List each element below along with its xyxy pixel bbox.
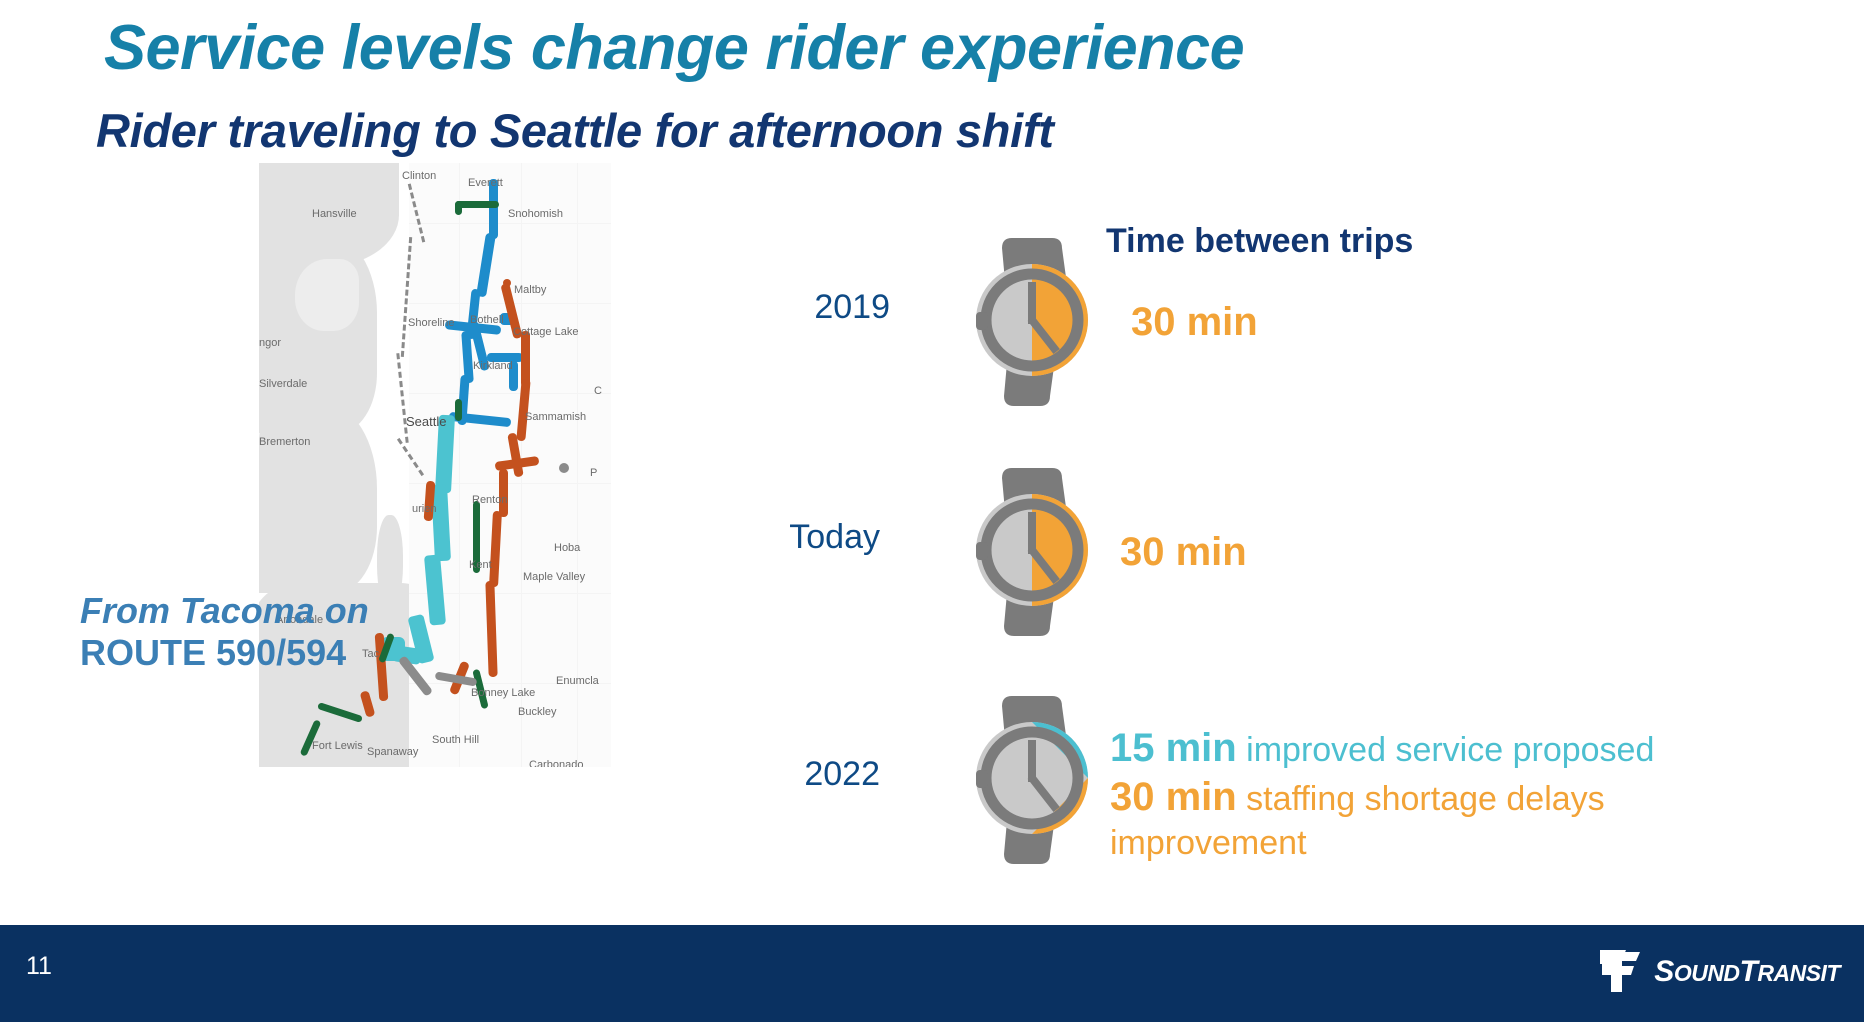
map-label: Enumcla [556, 675, 599, 687]
watch-icon-2022 [970, 690, 1094, 866]
map-grid-line [409, 393, 611, 394]
map-landmass-peninsula [259, 403, 377, 593]
sound-transit-wordmark: SOUNDTRANSIT [1654, 955, 1840, 989]
region-transit-map: Clinton Everett Snohomish Hansville Malt… [259, 163, 611, 767]
note-text: improvement [1110, 824, 1307, 862]
map-label: Maltby [514, 284, 546, 296]
map-label: Hansville [312, 208, 357, 220]
map-label: Spanaway [367, 746, 418, 758]
note-text: staffing shortage delays [1237, 780, 1605, 818]
map-label: Maple Valley [523, 571, 585, 583]
row-year-2022: 2022 [690, 755, 880, 794]
map-label: Silverdale [259, 378, 307, 390]
map-label: Bremerton [259, 436, 310, 448]
note-line-30min: 30 min staffing shortage delays [1110, 775, 1654, 820]
map-label: Kirkland [473, 360, 513, 372]
logo-s: S [1654, 955, 1674, 988]
map-label: Hoba [554, 542, 580, 554]
map-label: Snohomish [508, 208, 563, 220]
map-label: Sammamish [525, 411, 586, 423]
map-label: South Hill [432, 734, 479, 746]
note-line-improvement: improvement [1110, 824, 1654, 863]
logo-ransit: RANSIT [1757, 960, 1840, 986]
map-grid-line [409, 223, 611, 224]
map-route-green [455, 201, 462, 215]
time-between-trips-heading: Time between trips [1106, 222, 1413, 261]
row-year-2019: 2019 [700, 288, 890, 327]
page-number: 11 [26, 952, 52, 981]
note-strong: 30 min [1110, 775, 1237, 819]
logo-t: T [1740, 955, 1758, 988]
map-route-gray [559, 463, 569, 473]
row-value-2019: 30 min [1131, 300, 1258, 345]
row-notes-2022: 15 min improved service proposed 30 min … [1110, 726, 1654, 867]
map-label: P [590, 467, 597, 479]
map-label: Shoreline [408, 317, 454, 329]
map-label: ngor [259, 337, 281, 349]
map-label: Clinton [402, 170, 436, 182]
note-strong: 15 min [1110, 726, 1237, 770]
map-route-green [455, 399, 462, 421]
map-label: Cottage Lake [513, 326, 578, 338]
route-callout-line-2: ROUTE 590/594 [80, 632, 500, 674]
route-callout: From Tacoma on ROUTE 590/594 [80, 590, 500, 675]
map-label: Fort Lewis [312, 740, 363, 752]
map-landmass-island [295, 259, 359, 331]
map-label: Bothell [470, 314, 504, 326]
map-route-orange [499, 469, 508, 517]
map-label: C [594, 385, 602, 397]
route-callout-line-1: From Tacoma on [80, 590, 500, 632]
map-label: Bonney Lake [471, 687, 535, 699]
note-line-15min: 15 min improved service proposed [1110, 726, 1654, 771]
row-value-today: 30 min [1120, 530, 1247, 575]
watch-icon-today [970, 462, 1094, 638]
note-text: improved service proposed [1237, 731, 1655, 769]
map-label: Seattle [406, 414, 446, 429]
map-label: Buckley [518, 706, 557, 718]
logo-ound: OUND [1674, 960, 1740, 986]
map-label: Kent [469, 559, 492, 571]
map-label: Everett [468, 177, 503, 189]
sound-transit-mark-icon [1598, 948, 1644, 996]
map-label: Carbonado [529, 759, 583, 767]
sound-transit-logo: SOUNDTRANSIT [1598, 948, 1840, 996]
watch-icon-2019 [970, 232, 1094, 408]
page-title: Service levels change rider experience [104, 12, 1804, 84]
row-year-today: Today [690, 518, 880, 557]
map-label: urien [412, 503, 436, 515]
page-subtitle: Rider traveling to Seattle for afternoon… [96, 103, 1496, 158]
map-label: Renton [472, 494, 507, 506]
footer-bar [0, 925, 1864, 1022]
